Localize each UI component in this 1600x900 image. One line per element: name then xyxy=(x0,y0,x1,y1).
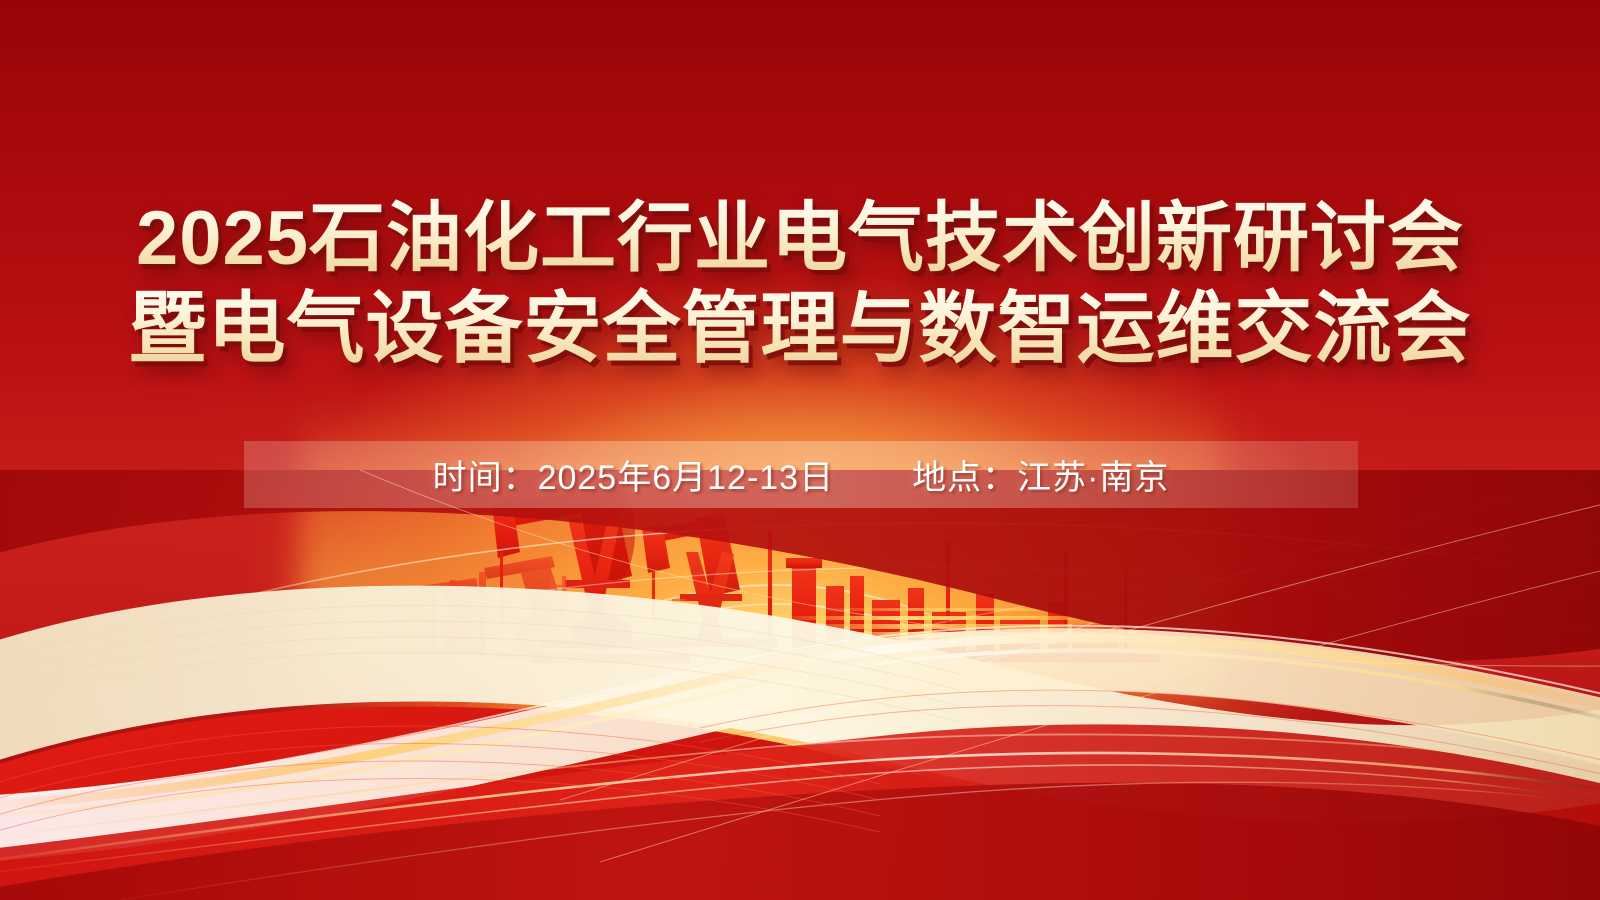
event-location: 地点：江苏·南京 xyxy=(912,450,1169,499)
event-date: 时间：2025年6月12-13日 xyxy=(433,450,835,499)
title-line-2: 暨电气设备安全管理与数智运维交流会 xyxy=(0,282,1600,374)
banner-title: 2025石油化工行业电气技术创新研讨会 暨电气设备安全管理与数智运维交流会 xyxy=(0,196,1600,374)
oil-pumpjack-skyline-icon xyxy=(380,380,1160,680)
event-info-bar: 时间：2025年6月12-13日 地点：江苏·南京 xyxy=(244,441,1358,508)
conference-banner: 2025石油化工行业电气技术创新研讨会 暨电气设备安全管理与数智运维交流会 时间… xyxy=(0,0,1600,900)
title-line-1: 2025石油化工行业电气技术创新研讨会 xyxy=(0,196,1600,282)
ribbon-waves-decoration xyxy=(0,470,1600,900)
